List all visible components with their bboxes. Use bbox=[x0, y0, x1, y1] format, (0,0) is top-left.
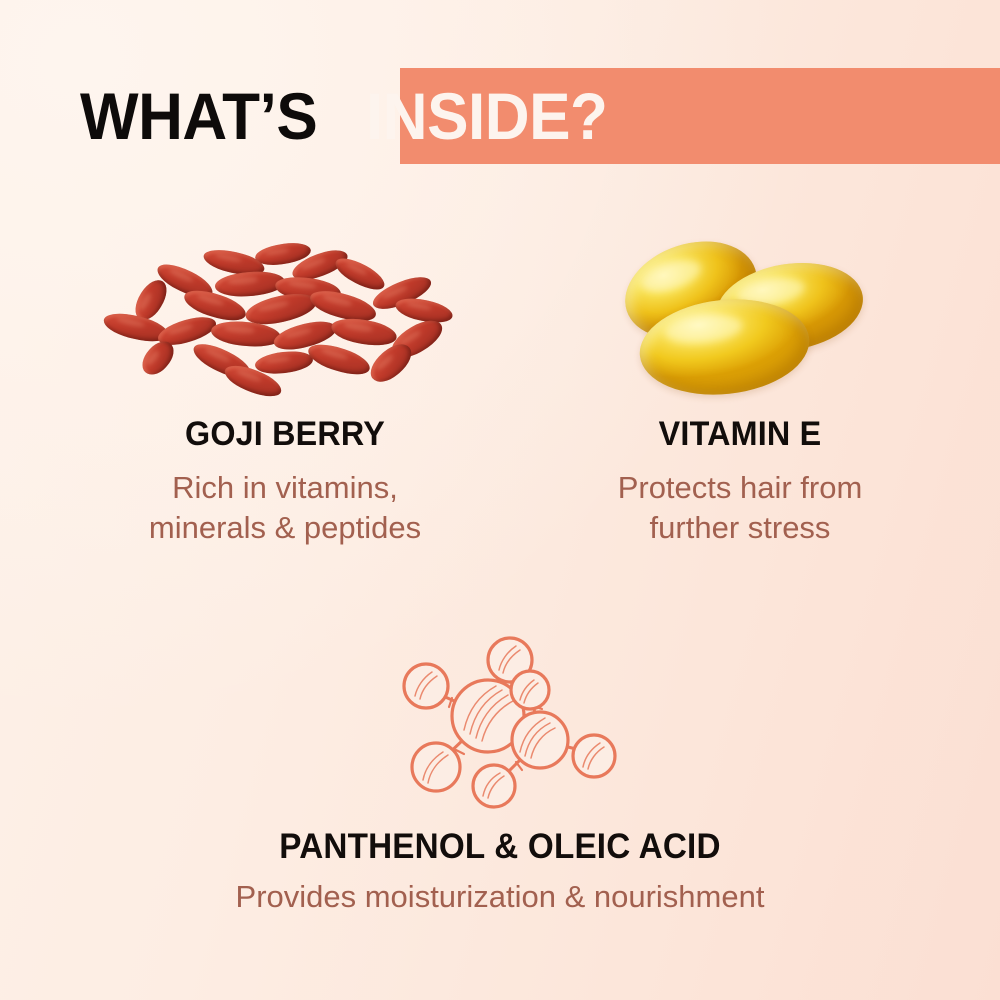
ingredient-description-line: minerals & peptides bbox=[40, 508, 530, 548]
ingredient-description-vitamin-e: Protects hair from further stress bbox=[520, 468, 960, 547]
molecule-icon bbox=[380, 634, 620, 814]
molecule-art bbox=[60, 630, 940, 805]
ingredient-description-line: Provides moisturization & nourishment bbox=[60, 877, 940, 917]
page-title-primary: WHAT’S bbox=[80, 83, 317, 149]
ingredient-description-panthenol-oleic-acid: Provides moisturization & nourishment bbox=[60, 877, 940, 917]
goji-berries-image bbox=[40, 230, 530, 405]
goji-berry-pile bbox=[95, 242, 475, 397]
header: WHAT’S INSIDE? bbox=[0, 68, 1000, 164]
ingredient-description-line: Protects hair from bbox=[520, 468, 960, 508]
ingredient-description-line: further stress bbox=[520, 508, 960, 548]
ingredient-description-goji-berry: Rich in vitamins, minerals & peptides bbox=[40, 468, 530, 547]
ingredient-title-goji-berry: GOJI BERRY bbox=[52, 415, 518, 454]
ingredient-card-panthenol-oleic-acid: PANTHENOL & OLEIC ACID Provides moisturi… bbox=[60, 630, 940, 917]
ingredient-title-vitamin-e: VITAMIN E bbox=[531, 415, 949, 454]
header-title-group: WHAT’S INSIDE? bbox=[0, 68, 1000, 164]
ingredient-title-panthenol-oleic-acid: PANTHENOL & OLEIC ACID bbox=[82, 827, 918, 867]
ingredient-card-goji-berry: GOJI BERRY Rich in vitamins, minerals & … bbox=[40, 230, 530, 547]
softgel-capsules-image bbox=[520, 230, 960, 405]
page-title-highlight: INSIDE? bbox=[366, 83, 607, 149]
ingredient-description-line: Rich in vitamins, bbox=[40, 468, 530, 508]
whats-inside-poster: WHAT’S INSIDE? bbox=[0, 0, 1000, 1000]
capsule-group bbox=[618, 238, 863, 398]
ingredient-card-vitamin-e: VITAMIN E Protects hair from further str… bbox=[520, 230, 960, 547]
